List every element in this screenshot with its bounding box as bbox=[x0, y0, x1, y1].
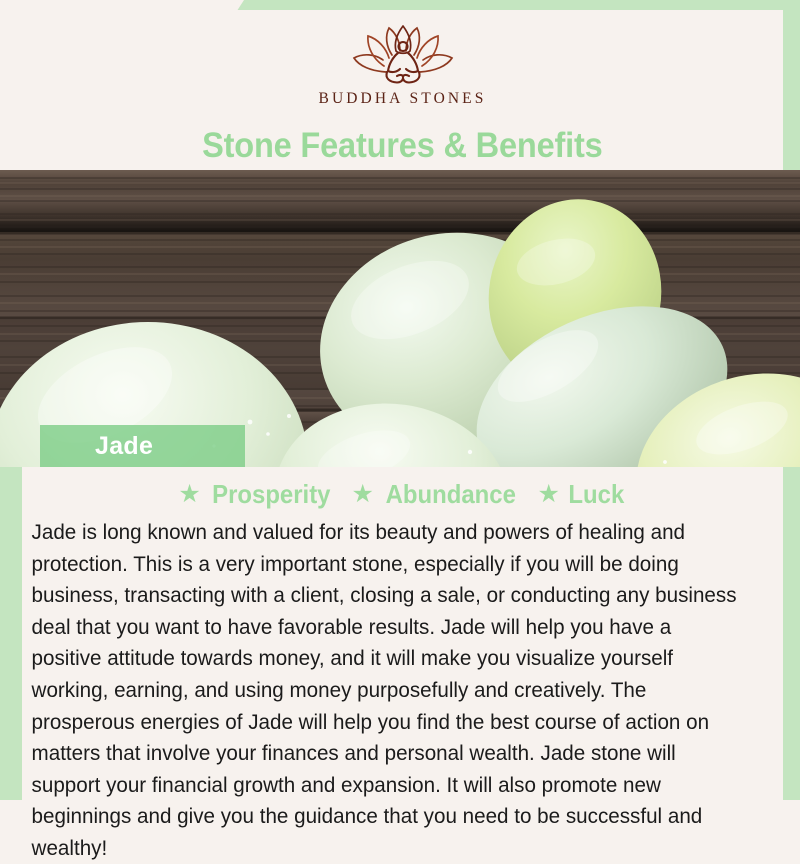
benefit-item-luck: ★ Luck bbox=[537, 479, 626, 510]
brand-header: BUDDHA STONES bbox=[22, 10, 783, 122]
title-banner: Stone Features & Benefits bbox=[22, 122, 783, 170]
content-canvas: BUDDHA STONES Stone Features & Benefits bbox=[22, 10, 783, 782]
benefit-label: Luck bbox=[568, 479, 624, 510]
stone-name-label: Jade bbox=[95, 432, 153, 461]
benefit-item-prosperity: ★ Prosperity bbox=[178, 479, 335, 510]
brand-wordmark: BUDDHA STONES bbox=[319, 90, 487, 108]
benefit-label: Prosperity bbox=[212, 479, 330, 510]
benefit-item-abundance: ★ Abundance bbox=[351, 479, 521, 510]
benefit-label: Abundance bbox=[386, 479, 516, 510]
star-icon: ★ bbox=[178, 482, 200, 507]
stone-description: Jade is long known and valued for its be… bbox=[22, 514, 749, 864]
star-icon: ★ bbox=[537, 482, 559, 507]
benefits-row: ★ Prosperity ★ Abundance ★ Luck bbox=[22, 467, 783, 514]
page-title: Stone Features & Benefits bbox=[202, 126, 603, 166]
lotus-meditation-figure-icon bbox=[351, 24, 455, 86]
star-icon: ★ bbox=[351, 482, 373, 507]
stone-name-band: Jade bbox=[40, 425, 245, 467]
stone-photo: Jade bbox=[0, 170, 800, 467]
